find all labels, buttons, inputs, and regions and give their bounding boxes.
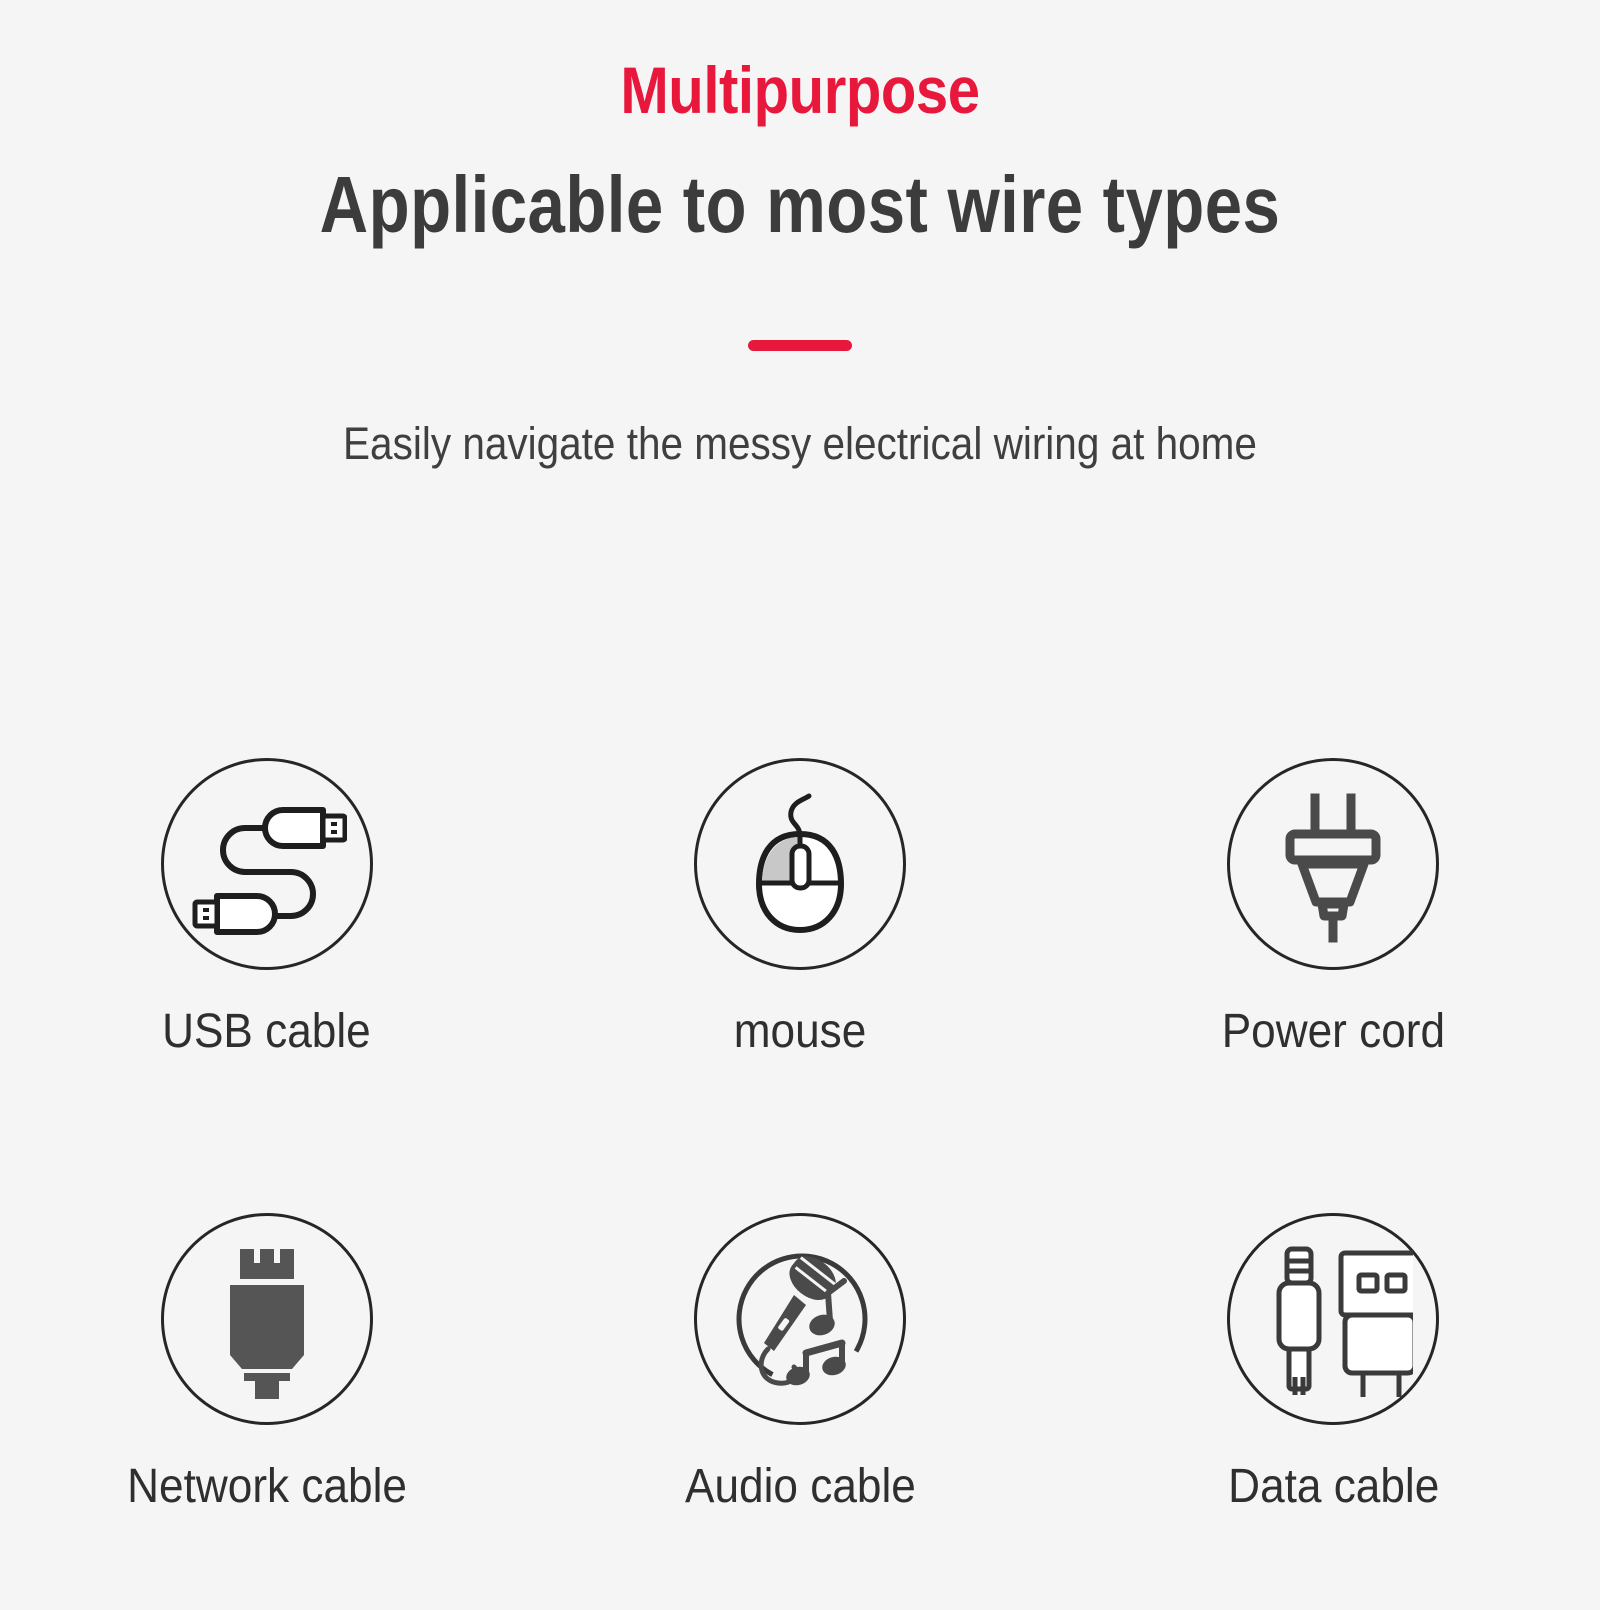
usb-cable-icon bbox=[187, 784, 347, 944]
feature-label-mouse: mouse bbox=[734, 1006, 867, 1059]
feature-item-power-cord: Power cord bbox=[1067, 700, 1600, 1155]
power-plug-icon bbox=[1258, 784, 1408, 944]
feature-item-data-cable: Data cable bbox=[1067, 1155, 1600, 1610]
feature-item-audio-cable: Audio cable bbox=[533, 1155, 1066, 1610]
feature-label-usb-cable: USB cable bbox=[162, 1006, 371, 1059]
page-title: Applicable to most wire types bbox=[128, 125, 1472, 247]
divider-wrap bbox=[0, 339, 1600, 351]
feature-item-mouse: mouse bbox=[533, 700, 1066, 1155]
icon-circle-network-cable bbox=[161, 1213, 373, 1425]
header-section: Multipurpose Applicable to most wire typ… bbox=[0, 0, 1600, 469]
icon-circle-power-cord bbox=[1227, 758, 1439, 970]
promo-page: Multipurpose Applicable to most wire typ… bbox=[0, 0, 1600, 1600]
network-connector-icon bbox=[192, 1239, 342, 1399]
icon-circle-audio-cable bbox=[694, 1213, 906, 1425]
icon-circle-mouse bbox=[694, 758, 906, 970]
feature-label-audio-cable: Audio cable bbox=[685, 1461, 916, 1514]
page-subtitle: Easily navigate the messy electrical wir… bbox=[80, 351, 1520, 469]
data-cable-connectors-icon bbox=[1253, 1239, 1413, 1399]
red-divider bbox=[748, 340, 852, 351]
feature-item-network-cable: Network cable bbox=[0, 1155, 533, 1610]
feature-item-usb-cable: USB cable bbox=[0, 700, 533, 1155]
icon-circle-usb-cable bbox=[161, 758, 373, 970]
brand-title: Multipurpose bbox=[96, 0, 1504, 125]
microphone-music-icon bbox=[720, 1239, 880, 1399]
computer-mouse-icon bbox=[725, 784, 875, 944]
icon-circle-data-cable bbox=[1227, 1213, 1439, 1425]
feature-label-power-cord: Power cord bbox=[1222, 1006, 1445, 1059]
feature-label-data-cable: Data cable bbox=[1228, 1461, 1439, 1514]
feature-label-network-cable: Network cable bbox=[127, 1461, 407, 1514]
feature-grid: USB cable bbox=[0, 700, 1600, 1610]
